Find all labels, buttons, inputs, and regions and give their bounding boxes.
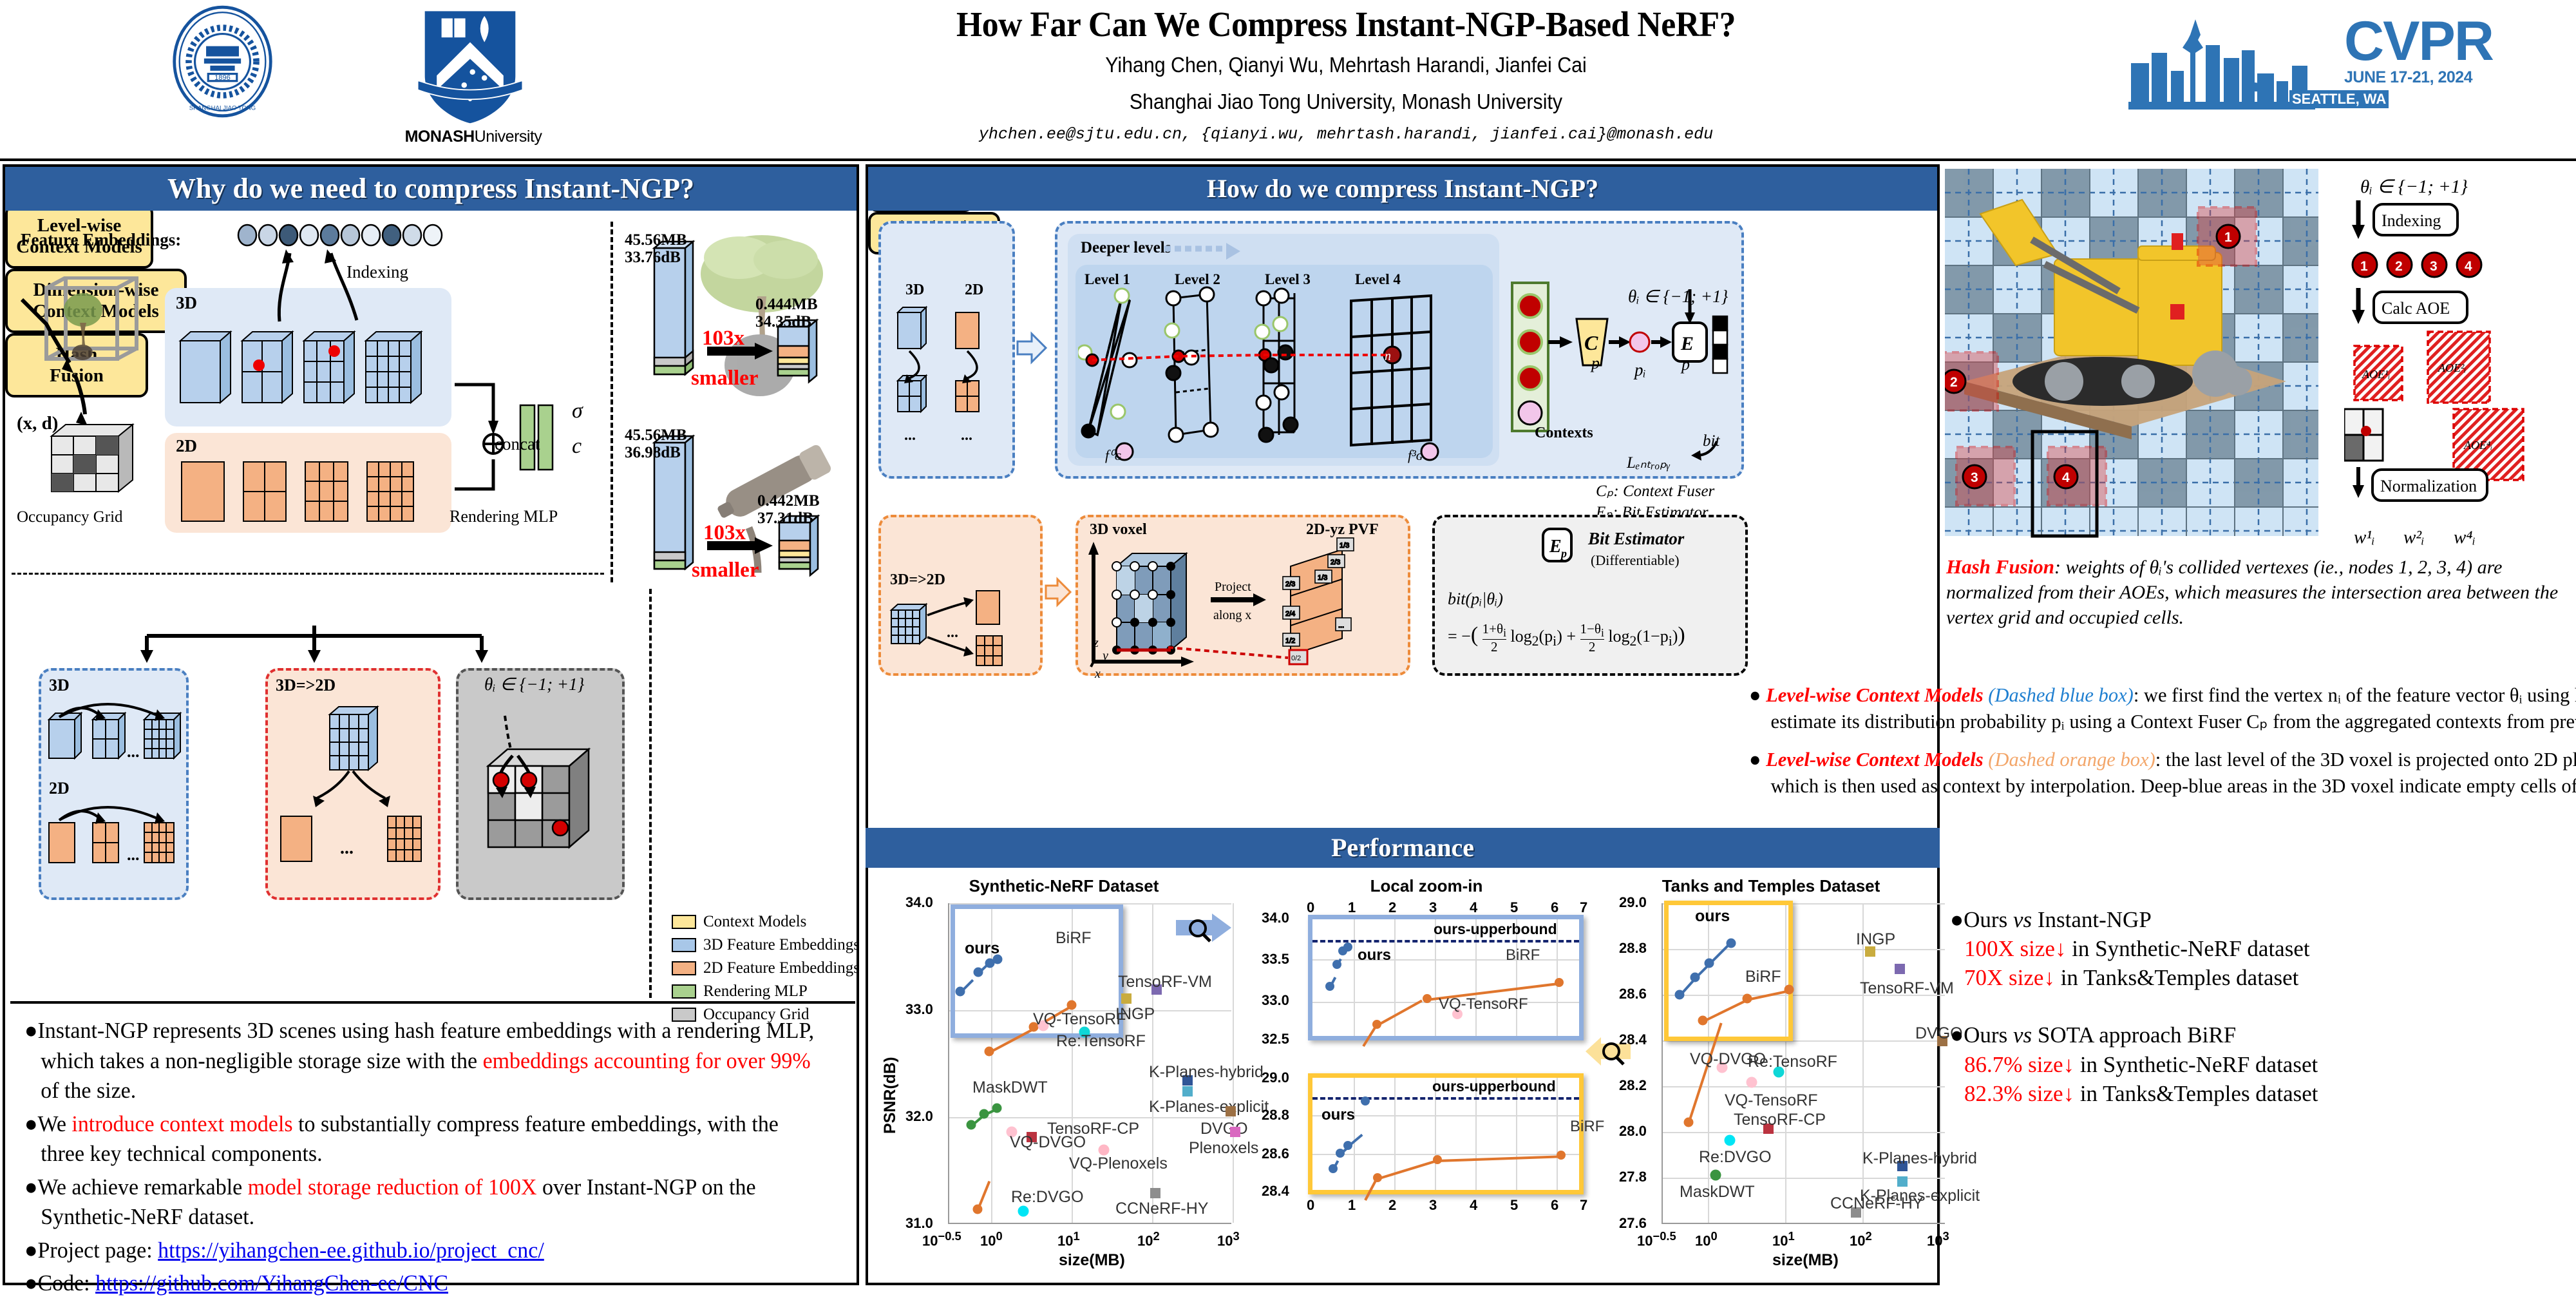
bottom-factor-sub: smaller: [692, 559, 759, 582]
legend-item: Rendering MLP: [672, 982, 860, 1000]
svg-text:2: 2: [2395, 259, 2403, 274]
levelwise-3d-label: 3D: [49, 676, 70, 695]
levelwise-side-cubes: ... ...: [887, 303, 1010, 474]
poster-header: 1896 SHANGHAI JIAO TONG MONASHUniversity…: [0, 0, 2576, 161]
lego-occupancy-grid-icon: 1 2 3 4: [1945, 169, 2331, 542]
chart-1-label-vq-tensorf: VQ-TensoRF: [1033, 1010, 1126, 1029]
bit-to-entropy-arrow: [1686, 437, 1725, 463]
levelwise-cubes-icon: ... ...: [43, 694, 187, 895]
mid-3d-label: 3D: [905, 282, 924, 299]
chart-3-xlabel: size(MB): [1772, 1251, 1839, 1270]
midtext-paren-1: (Dashed blue box): [1988, 684, 2134, 706]
svg-text:...: ...: [904, 427, 916, 444]
normalization-text: Normalization: [2380, 477, 2477, 495]
cvpr-date: JUNE 17-21, 2024: [2344, 68, 2493, 87]
chart-2a-ytick-0: 34.0: [1262, 910, 1289, 926]
right-theta-label: θᵢ ∈ {−1; +1}: [2360, 175, 2468, 198]
dimwise-cubes-icon: ...: [270, 694, 438, 895]
chart-3-label-kplanes-hybrid: K-Planes-hybrid: [1862, 1149, 1977, 1168]
chart-3-label-re-tensorf: Re:TensoRF: [1748, 1053, 1837, 1071]
chart-1-label-vq-dvgo: VQ-DVGO: [1010, 1133, 1086, 1152]
cvpr-logo-text: CVPR JUNE 17-21, 2024: [2344, 18, 2493, 87]
legend-swatch-2d-feature-embeddings: [672, 961, 696, 975]
chart-2a-upperbound-line: [1312, 940, 1579, 943]
chart-2a-ytick-2: 33.0: [1262, 992, 1289, 1009]
hash-grid-3d-icon: [178, 320, 448, 423]
ep-sub: p: [1681, 355, 1690, 374]
project-page-link[interactable]: https://yihangchen-ee.github.io/project_…: [158, 1238, 544, 1263]
result-line-1b: 70X size↓ in Tanks&Temples dataset: [1950, 963, 2572, 992]
chart-2b-ytick-3: 28.4: [1262, 1183, 1289, 1200]
bottom-after-size: 0.442MB: [757, 492, 820, 510]
left-legend-divider: [649, 589, 652, 998]
chart-2b-panel: ours-upperbound ours BiRF: [1308, 1073, 1584, 1194]
mid-2d-label: 2D: [965, 282, 983, 299]
bullet-highlight: model storage reduction of 100X: [248, 1174, 537, 1200]
hashfusion-theta-label: θᵢ ∈ {−1; +1}: [484, 675, 584, 694]
legend-label-2d-feature-embeddings: 2D Feature Embeddings: [703, 959, 860, 977]
chart-synthetic-nerf: Synthetic-NeRF Dataset ours: [884, 876, 1244, 1282]
chart-3-ytick-4: 28.2: [1619, 1077, 1647, 1094]
left-section-title: Why do we need to compress Instant-NGP?: [5, 167, 857, 211]
chart-1-label-kplanes-hybrid: K-Planes-hybrid: [1149, 1063, 1264, 1082]
f-g-3-label: f³ɢ: [1408, 447, 1423, 464]
chart-2b-ytick-0: 29.0: [1262, 1069, 1289, 1086]
project-text: Project: [1215, 580, 1251, 594]
legend-label-3d-feature-embeddings: 3D Feature Embeddings: [703, 936, 860, 954]
chart-3-ytick-3: 28.4: [1619, 1031, 1647, 1048]
bit-formula-rhs: = −( 1+θi2 log2(pi) + 1−θi2 log2(1−pi)): [1448, 622, 1685, 654]
dim-3d2d-label: 3D=>2D: [890, 571, 945, 589]
chart-2-title: Local zoom-in: [1253, 876, 1600, 896]
code-link[interactable]: https://github.com/YihangChen-ee/CNC: [95, 1270, 448, 1296]
result-red-1b: 70X size↓: [1964, 965, 2055, 990]
svg-text:1: 1: [2224, 230, 2232, 245]
f-g-0-label: f⁰ɢ: [1105, 447, 1122, 464]
chart-3-ytick-6: 27.8: [1619, 1169, 1647, 1185]
panel-2d-label: 2D: [176, 436, 197, 456]
weight-4: w⁴ᵢ: [2454, 527, 2476, 548]
chart-1-label-plenoxels: Plenoxels: [1189, 1139, 1258, 1158]
midtext-paragraph: ● Level-wise Context Models (Dashed blue…: [1749, 682, 2576, 735]
svg-text:...: ...: [127, 742, 140, 761]
monash-logo: [402, 6, 538, 126]
chart-1-ytick-1: 33.0: [905, 1001, 933, 1018]
chart-2b-label-ours: ours: [1321, 1106, 1355, 1124]
chart-3-ytick-0: 29.0: [1619, 894, 1647, 911]
svg-text:2/3: 2/3: [1331, 559, 1340, 566]
chart-1-label-re-tensorf: Re:TensoRF: [1056, 1032, 1146, 1051]
svg-text:1/3: 1/3: [1340, 542, 1349, 550]
hash-fusion-caption: Hash Fusion: weights of θᵢ's collided ve…: [1946, 554, 2570, 630]
weight-2: w²ᵢ: [2403, 527, 2425, 548]
svg-text:1: 1: [2360, 259, 2368, 274]
svg-text:E: E: [1680, 333, 1694, 354]
chart-3-ytick-5: 28.0: [1619, 1123, 1647, 1140]
svg-text:SHANGHAI JIAO TONG: SHANGHAI JIAO TONG: [189, 104, 256, 111]
svg-text:4: 4: [2465, 259, 2472, 274]
svg-text:3: 3: [1971, 470, 1978, 485]
chart-3-label-ccnerf-hy: CCNeRF-HY: [1830, 1194, 1923, 1213]
midtext-bullet-1: ● Level-wise Context Models (Dashed blue…: [1749, 682, 2576, 735]
bullet-highlight: introduce context models: [71, 1111, 292, 1136]
midtext-paragraph: ● Level-wise Context Models (Dashed oran…: [1749, 747, 2576, 799]
title-block: How Far Can We Compress Instant-NGP-Base…: [889, 4, 1803, 144]
bit-formula-lhs: bit(pᵢ|θᵢ): [1448, 589, 1503, 609]
concat-label: concat: [495, 434, 540, 454]
along-x-text: along x: [1213, 608, 1251, 622]
chart-tanks-temples: Tanks and Temples Dataset ours: [1597, 876, 1945, 1282]
result-head-1: ●Ours vs Instant-NGP: [1950, 905, 2572, 934]
midtext-bullet-2: ● Level-wise Context Models (Dashed oran…: [1749, 747, 2576, 799]
chart-1-title: Synthetic-NeRF Dataset: [884, 876, 1244, 896]
chart-2b-ytick-1: 28.8: [1262, 1107, 1289, 1124]
svg-text:0/2: 0/2: [1291, 655, 1301, 662]
chart-1-label-vq-plenoxels: VQ-Plenoxels: [1069, 1154, 1168, 1173]
svg-text:p: p: [1560, 547, 1567, 560]
cvpr-city: SEATTLE, WA: [2289, 90, 2389, 108]
top-before-psnr: 33.76dB: [625, 249, 681, 267]
chart-3-ytick-1: 28.8: [1619, 940, 1647, 957]
result-red-2a: 86.7% size↓: [1964, 1052, 2074, 1077]
result-line-1a: 100X size↓ in Synthetic-NeRF dataset: [1950, 934, 2572, 963]
left-bullet-list: ●Instant-NGP represents 3D scenes using …: [24, 1016, 842, 1302]
bullet-highlight: embeddings accounting for over 99%: [483, 1048, 811, 1073]
result-head-2: ●Ours vs SOTA approach BiRF: [1950, 1020, 2572, 1049]
chart-1-label-re-dvgo: Re:DVGO: [1011, 1188, 1084, 1207]
result-red-1a: 100X size↓: [1964, 936, 2066, 961]
chart-3-label-vq-tensorf: VQ-TensoRF: [1725, 1091, 1817, 1110]
chart-1-ylabel: PSNR(dB): [881, 1057, 900, 1134]
svg-text:E: E: [1549, 537, 1562, 557]
legend-label-rendering-mlp: Rendering MLP: [703, 982, 808, 1000]
voxel-projection-icon: Project along x 1/3 2/3 1/3 2/3 2/4 1/2 …: [1084, 535, 1406, 672]
svg-text:...: ...: [127, 845, 140, 864]
chart-1-ytick-2: 32.0: [905, 1108, 933, 1125]
rendering-mlp-label: Rendering MLP: [450, 507, 558, 526]
chart-3-label-ours: ours: [1695, 907, 1730, 926]
left-column: Why do we need to compress Instant-NGP? …: [3, 164, 859, 1285]
legend-swatch-rendering-mlp: [672, 984, 696, 999]
chart-2a-ytick-3: 32.5: [1262, 1031, 1289, 1048]
bullet-item: ●We achieve remarkable model storage red…: [24, 1173, 818, 1232]
chart-1-label-birf: BiRF: [1056, 929, 1092, 948]
svg-text:4: 4: [2062, 470, 2070, 485]
chart-3-title: Tanks and Temples Dataset: [1597, 876, 1945, 896]
chart-2b-upperbound-line: [1312, 1097, 1579, 1100]
chart-1-label-ccnerf-hy: CCNeRF-HY: [1115, 1200, 1208, 1218]
chart-2b-ytick-2: 28.6: [1262, 1145, 1289, 1162]
chart-3-label-re-dvgo: Re:DVGO: [1699, 1148, 1772, 1167]
color-label: c: [572, 434, 582, 459]
midtext-head-1: Level-wise Context Models: [1766, 684, 1984, 706]
chart-3-label-birf: BiRF: [1745, 968, 1781, 986]
bullet-item: ●Instant-NGP represents 3D scenes using …: [24, 1016, 818, 1106]
chart-3-label-tensorf-vm: TensoRF-VM: [1860, 979, 1954, 998]
weight-1: w¹ᵢ: [2354, 527, 2375, 548]
result-rest-1a: in Synthetic-NeRF dataset: [2066, 936, 2309, 961]
aoe2-text: AOE²ᵢ: [2438, 361, 2466, 374]
result-rest-2b: in Tanks&Temples dataset: [2074, 1081, 2318, 1106]
top-after-psnr: 34.35dB: [755, 313, 811, 331]
monash-wordmark-light: University: [475, 128, 542, 146]
bottom-after-psnr: 37.31dB: [757, 510, 813, 528]
xd-label: (x, d): [17, 413, 58, 434]
top-before-size: 45.56MB: [625, 231, 687, 249]
bullet-item: ●Project page: https://yihangchen-ee.git…: [24, 1236, 818, 1266]
legend-swatch-3d-feature-embeddings: [672, 938, 696, 952]
chart-2a-upperbound-label: ours-upperbound: [1434, 921, 1557, 938]
result-red-2b: 82.3% size↓: [1964, 1081, 2074, 1106]
chart-1-label-dvgo: DVGO: [1200, 1120, 1248, 1138]
monash-wordmark: MONASHUniversity: [380, 128, 567, 146]
chart-1-ytick-0: 34.0: [905, 894, 933, 911]
zoom-arrow-icon: [1176, 912, 1235, 948]
chart-3-ytick-2: 28.6: [1619, 986, 1647, 1002]
cp-sub: p: [1591, 354, 1600, 373]
svg-text:2: 2: [1950, 375, 1958, 390]
panel-3d-label: 3D: [176, 293, 197, 313]
axis-y-label: y: [1103, 649, 1108, 664]
chart-3-plot: ours BiRF INGP TensoRF-VM DVGO VQ-DVGO R…: [1662, 903, 1945, 1224]
chart-2a-label-birf: BiRF: [1506, 946, 1540, 964]
calc-aoe-text: Calc AOE: [2382, 299, 2450, 318]
left-bullets-divider: [10, 1001, 855, 1004]
chart-1-label-ours: ours: [965, 939, 999, 958]
indexing-arrows-icon: [237, 243, 456, 323]
indexing-text: Indexing: [2382, 211, 2441, 230]
dimwise-small-cubes: ...: [887, 587, 1032, 672]
svg-text:...: ...: [1338, 622, 1344, 629]
axis-z-label: z: [1094, 636, 1099, 651]
legend-item: 2D Feature Embeddings: [672, 959, 860, 977]
chart-3-label-maskdwt: MaskDWT: [1680, 1183, 1755, 1201]
result-rest-2a: in Synthetic-NeRF dataset: [2074, 1052, 2318, 1077]
sigma-label: σ: [572, 399, 583, 423]
poster-root: 1896 SHANGHAI JIAO TONG MONASHUniversity…: [0, 0, 2576, 1288]
bit-estimator-sub: (Differentiable): [1591, 552, 1680, 569]
axis-x-label: x: [1095, 667, 1101, 682]
occupancy-grid-label: Occupancy Grid: [17, 508, 123, 526]
chart-2a-label-vq-tensorf: VQ-TensoRF: [1439, 995, 1528, 1013]
legend-item: 3D Feature Embeddings: [672, 936, 860, 954]
legend-label-context-models: Context Models: [703, 913, 806, 931]
cvpr-name: CVPR: [2344, 18, 2493, 66]
cp-legend: Cₚ: Context Fuser: [1596, 481, 1714, 501]
hashfusion-cube-icon: [462, 702, 623, 895]
legend: Context Models 3D Feature Embeddings 2D …: [672, 913, 860, 1029]
bit-estimator-title: Bit Estimator: [1588, 529, 1684, 549]
bottom-before-psnr: 36.98dB: [625, 444, 681, 462]
flow-arrow-right-icon-2: [1045, 577, 1073, 613]
chart-1-label-maskdwt: MaskDWT: [972, 1078, 1048, 1097]
theta-label-mid: θᵢ ∈ {−1; +1}: [1628, 287, 1728, 307]
chart-1-label-kplanes-explicit: K-Planes-explicit: [1149, 1098, 1269, 1116]
svg-text:1/3: 1/3: [1318, 574, 1327, 582]
email-line: yhchen.ee@sjtu.edu.cn, {qianyi.wu, mehrt…: [889, 125, 1803, 144]
hash-fusion-flow-icon: Indexing 1 2 3 4 Calc AOE AOE¹ᵢ AOE²ᵢ AO…: [2344, 196, 2563, 512]
svg-text:1/2: 1/2: [1285, 637, 1295, 645]
top-factor: 103x: [702, 327, 744, 350]
affiliation: Shanghai Jiao Tong University, Monash Un…: [925, 90, 1766, 114]
left-horizontal-divider: [12, 573, 604, 575]
svg-text:n: n: [1385, 349, 1391, 363]
monash-wordmark-bold: MONASH: [405, 128, 475, 146]
svg-text:1896: 1896: [214, 74, 231, 82]
svg-text:...: ...: [340, 838, 354, 858]
middle-section-title: How do we compress Instant-NGP?: [868, 167, 1937, 211]
right-results: ●Ours vs Instant-NGP 100X size↓ in Synth…: [1950, 905, 2572, 1108]
hash-fusion-figure: 1 2 3 4: [1945, 169, 2331, 542]
svg-text:2/3: 2/3: [1285, 580, 1295, 588]
contexts-label: Contexts: [1535, 425, 1593, 442]
aoe4-text: AOE⁴ᵢ: [2463, 439, 2492, 452]
svg-text:...: ...: [961, 427, 972, 444]
flow-arrow-right-icon: [1016, 331, 1050, 370]
scene-occupancy-icon: [15, 276, 164, 528]
pi-label: pᵢ: [1634, 360, 1646, 380]
top-factor-sub: smaller: [691, 367, 758, 390]
sjtu-logo: 1896 SHANGHAI JIAO TONG: [169, 5, 276, 118]
chart-3-label-ingp: INGP: [1856, 930, 1895, 949]
deeper-levels-arrow-icon: [1164, 243, 1255, 260]
svg-text:3: 3: [2430, 259, 2438, 274]
chart-1-plot: ours BiRF MaskDWT TensoRF-VM INGP VQ-Ten…: [948, 903, 1231, 1224]
context-split-arrows: [95, 626, 540, 664]
l-entropy-label: Lₑₙₜᵣₒₚᵧ: [1627, 453, 1671, 472]
dimwise-label: 3D=>2D: [276, 676, 336, 695]
hash-grid-2d-icon: [178, 458, 448, 526]
feature-embeddings-label: Feature Embeddings:: [21, 230, 181, 250]
bullet-item: ●We introduce context models to substant…: [24, 1109, 818, 1169]
chart-1-label-tensorf-vm: TensoRF-VM: [1118, 973, 1212, 991]
page-title: How Far Can We Compress Instant-NGP-Base…: [916, 4, 1776, 44]
bottom-before-size: 45.56MB: [625, 426, 687, 445]
legend-swatch-context-models: [672, 915, 696, 929]
svg-text:...: ...: [947, 624, 958, 641]
chart-1-xlabel: size(MB): [1059, 1251, 1125, 1270]
midtext-head-2: Level-wise Context Models: [1766, 748, 1984, 771]
author-list: Yihang Chen, Qianyi Wu, Mehrtash Harandi…: [925, 53, 1766, 77]
svg-text:2/4: 2/4: [1285, 610, 1295, 618]
result-line-2b: 82.3% size↓ in Tanks&Temples dataset: [1950, 1079, 2572, 1108]
aoe1-text: AOE¹ᵢ: [2362, 368, 2390, 381]
chart-2b-upperbound-label: ours-upperbound: [1432, 1078, 1556, 1095]
level-lattices-icon: n: [1078, 283, 1497, 462]
svg-text:C: C: [1584, 331, 1598, 354]
deeper-levels-label: Deeper levels: [1081, 239, 1171, 257]
chart-2a-ytick-1: 33.5: [1262, 951, 1289, 968]
left-vertical-divider: [611, 222, 613, 582]
chart-2a-panel: ours-upperbound ours BiRF VQ-TensoRF: [1308, 915, 1584, 1040]
chart-3-label-tensorf-cp: TensoRF-CP: [1734, 1111, 1826, 1129]
result-line-2a: 86.7% size↓ in Synthetic-NeRF dataset: [1950, 1050, 2572, 1079]
bottom-factor: 103x: [703, 521, 746, 545]
performance-section-title: Performance: [866, 828, 1940, 868]
result-rest-1b: in Tanks&Temples dataset: [2055, 965, 2298, 990]
bullet-item: ●Code: https://github.com/YihangChen-ee/…: [24, 1268, 818, 1299]
hash-fusion-head: Hash Fusion: [1946, 555, 2054, 578]
ep-icon: E p: [1538, 525, 1579, 566]
header-rule: [0, 158, 2576, 161]
result-spacer: [1950, 992, 2572, 1020]
legend-item: Context Models: [672, 913, 860, 931]
midtext-paren-2: (Dashed orange box): [1988, 748, 2155, 771]
chart-local-zoom: Local zoom-in 34.0 33.5 33.0 32.5 ours-u…: [1253, 876, 1600, 1282]
chart-2a-label-ours: ours: [1358, 946, 1391, 964]
top-after-size: 0.444MB: [755, 296, 818, 314]
